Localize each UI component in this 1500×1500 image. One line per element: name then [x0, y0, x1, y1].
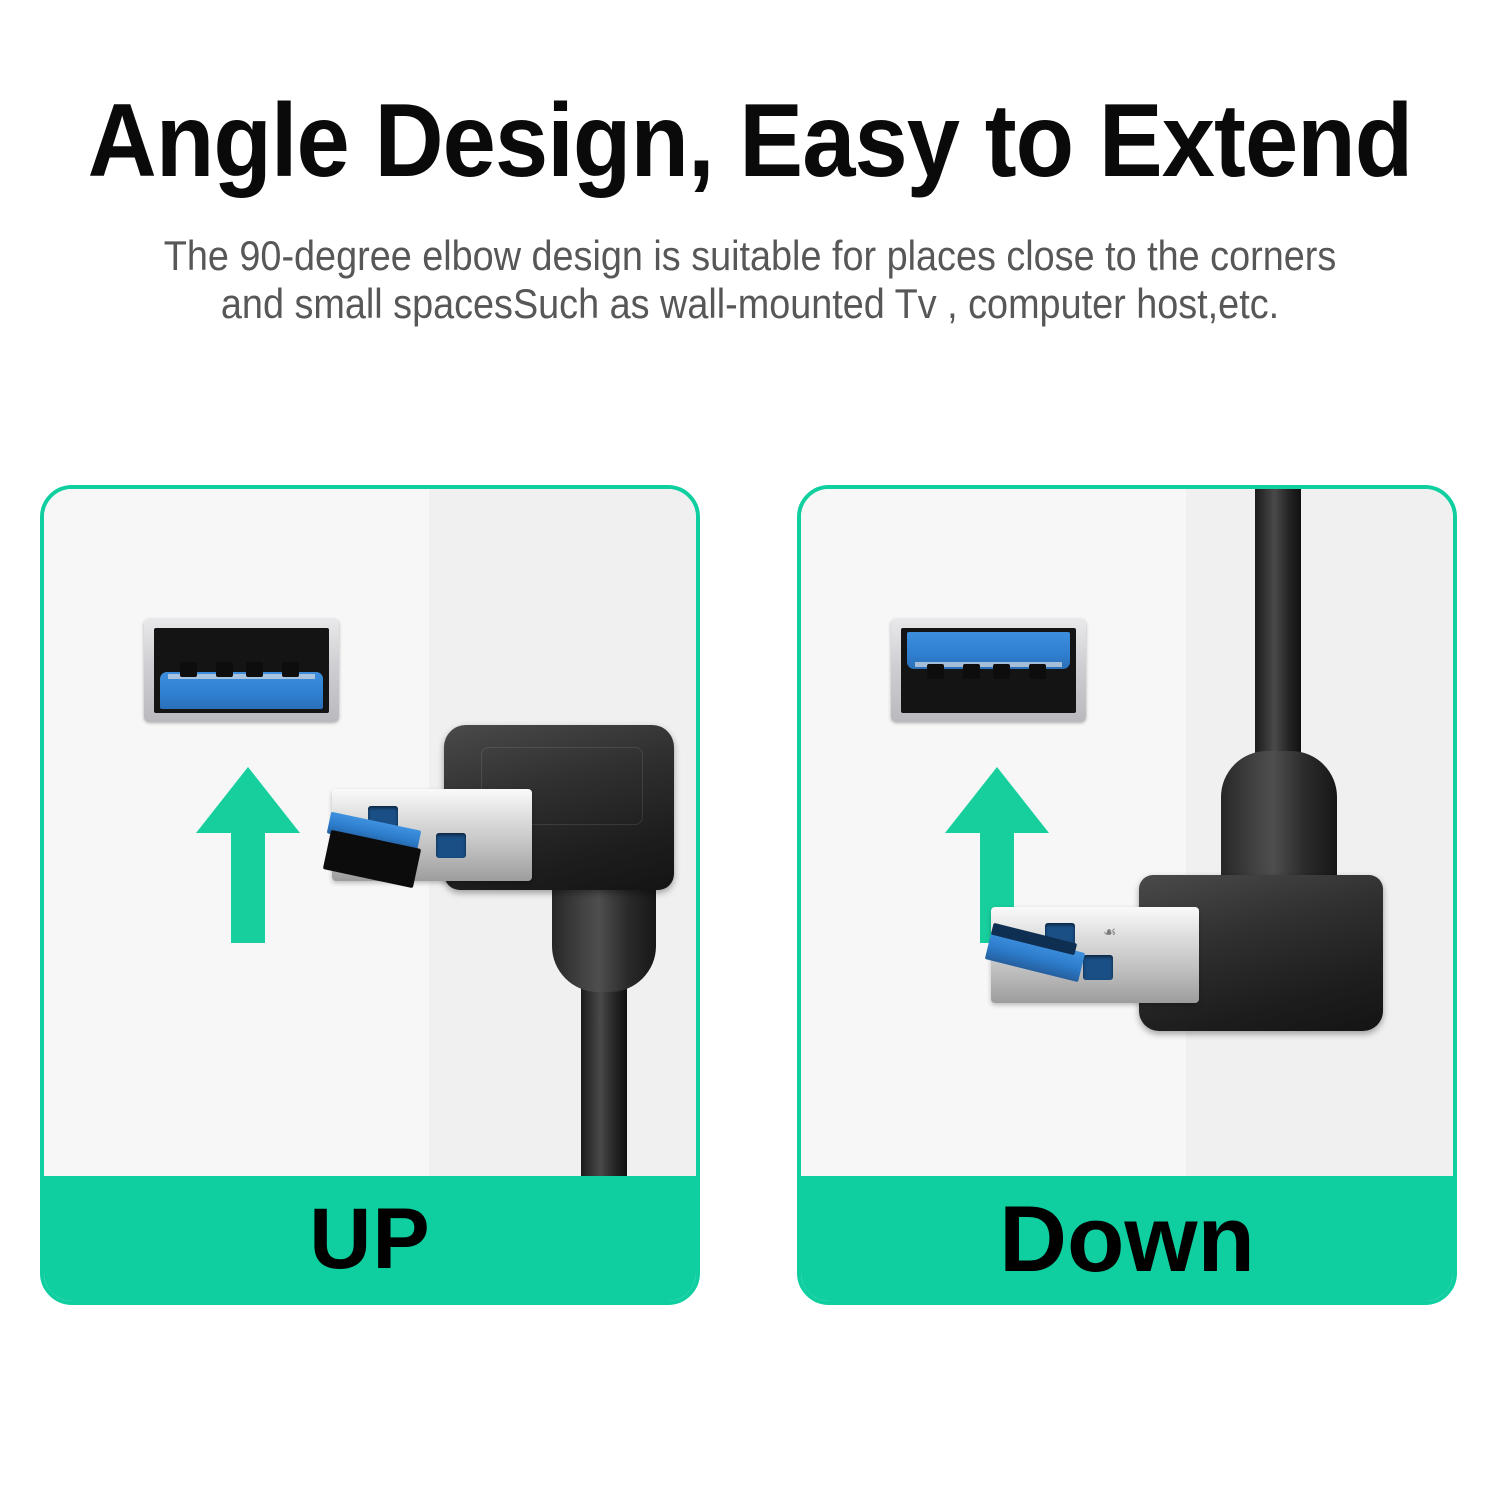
- panel-down-label: Down: [999, 1192, 1255, 1286]
- usb-port-icon: [891, 619, 1086, 722]
- usb-port-pin: [216, 662, 233, 677]
- arrow-head: [196, 767, 300, 833]
- usb-cable: [581, 979, 627, 1176]
- usb-port-pin: [993, 664, 1010, 679]
- page-subtitle: The 90-degree elbow design is suitable f…: [120, 232, 1380, 328]
- usb-plug-cutout: [436, 833, 466, 858]
- arrow-shaft: [231, 831, 265, 943]
- panel-down: ☙ Down: [797, 485, 1457, 1305]
- panel-up-label: UP: [309, 1196, 430, 1282]
- header: Angle Design, Easy to Extend The 90-degr…: [0, 0, 1500, 420]
- usb-port-pin: [927, 664, 944, 679]
- arrow-up-icon: [196, 767, 300, 943]
- panel-down-footer: Down: [801, 1176, 1453, 1301]
- panel-down-stage: ☙: [801, 489, 1453, 1176]
- panel-up-footer: UP: [44, 1176, 696, 1301]
- arrow-head: [945, 767, 1049, 833]
- panel-up-stage: ☙: [44, 489, 696, 1176]
- usb-plug-cutout: [1083, 955, 1113, 980]
- usb-port-cavity: [901, 628, 1076, 713]
- subtitle-line-1: The 90-degree elbow design is suitable f…: [120, 232, 1380, 280]
- panel-up: ☙ UP: [40, 485, 700, 1305]
- usb-port-icon: [144, 619, 339, 722]
- usb-trident-logo: ☙: [1103, 923, 1116, 941]
- usb-port-pin: [246, 662, 263, 677]
- usb-port-pin: [282, 662, 299, 677]
- usb-cable: [1255, 489, 1301, 769]
- usb-port-cavity: [154, 628, 329, 713]
- page-title: Angle Design, Easy to Extend: [60, 86, 1440, 196]
- subtitle-line-2: and small spacesSuch as wall-mounted Tv …: [120, 280, 1380, 328]
- usb-port-pin: [180, 662, 197, 677]
- usb-port-pin: [963, 664, 980, 679]
- usb-port-pin: [1029, 664, 1046, 679]
